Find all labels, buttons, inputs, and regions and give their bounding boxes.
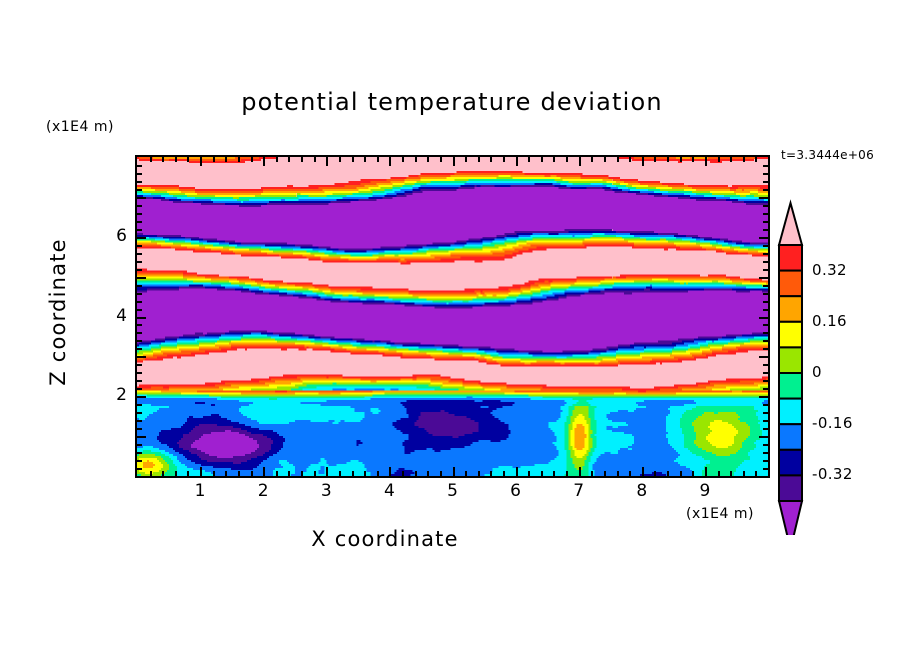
tick-mark [718,471,720,476]
tick-mark [743,471,745,476]
tick-mark [137,396,146,398]
tick-mark [137,165,142,167]
tick-mark [137,340,142,342]
tick-mark [137,277,146,279]
tick-mark [763,269,768,271]
tick-mark [763,221,768,223]
tick-mark [238,157,240,162]
x-tick-label: 1 [185,481,215,501]
tick-mark [763,245,768,247]
tick-mark [591,471,593,476]
x-tick-label: 7 [564,481,594,501]
colorbar-segment [779,322,802,348]
tick-mark [137,317,146,319]
tick-mark [478,471,480,476]
tick-mark [763,253,768,255]
tick-mark [478,157,480,162]
tick-mark [137,404,142,406]
tick-mark [763,428,768,430]
tick-mark [402,471,404,476]
tick-mark [579,157,581,166]
tick-mark [137,420,142,422]
tick-mark [763,348,768,350]
tick-mark [718,157,720,162]
tick-mark [352,471,354,476]
tick-mark [314,157,316,162]
tick-mark [763,452,768,454]
colorbar-segment [779,373,802,399]
tick-mark [339,157,341,162]
tick-mark [763,420,768,422]
tick-mark [465,471,467,476]
tick-mark [415,157,417,162]
tick-mark [213,157,215,162]
tick-mark [763,372,768,374]
colorbar-tick-label: -0.16 [812,414,853,432]
colorbar-segment [779,347,802,373]
tick-mark [528,157,530,162]
colorbar-segment [779,245,802,271]
tick-mark [579,467,581,476]
tick-mark [137,253,142,255]
tick-mark [629,157,631,162]
scalar-field-image [137,157,768,476]
tick-mark [553,157,555,162]
tick-mark [490,471,492,476]
x-axis-unit: (x1E4 m) [686,506,754,522]
tick-mark [137,444,142,446]
tick-mark [150,157,152,162]
tick-mark [389,157,391,166]
tick-mark [137,221,142,223]
tick-mark [654,157,656,162]
tick-mark [137,356,146,358]
y-tick-label: 6 [101,226,127,246]
tick-mark [759,396,768,398]
tick-mark [238,471,240,476]
tick-mark [763,261,768,263]
tick-mark [763,285,768,287]
tick-mark [137,412,142,414]
tick-mark [763,340,768,342]
colorbar-segment [779,475,802,501]
y-axis-label: Z coordinate [46,202,70,422]
tick-mark [137,293,142,295]
tick-mark [617,157,619,162]
tick-mark [326,157,328,166]
timestamp-annotation: t=3.3444e+06 [781,148,874,162]
tick-mark [137,229,142,231]
tick-mark [251,471,253,476]
tick-mark [137,348,142,350]
tick-mark [642,467,644,476]
tick-mark [604,157,606,162]
tick-mark [251,157,253,162]
colorbar-tick-label: 0.16 [812,312,847,330]
tick-mark [692,157,694,162]
tick-mark [339,471,341,476]
colorbar [770,195,890,535]
tick-mark [566,157,568,162]
tick-mark [490,157,492,162]
tick-mark [553,471,555,476]
tick-mark [276,157,278,162]
tick-mark [763,189,768,191]
tick-mark [137,380,142,382]
tick-mark [667,157,669,162]
tick-mark [137,269,142,271]
tick-mark [137,245,142,247]
tick-mark [175,157,177,162]
x-tick-label: 3 [311,481,341,501]
tick-mark [705,467,707,476]
tick-mark [137,460,142,462]
tick-mark [162,157,164,162]
x-tick-label: 8 [627,481,657,501]
tick-mark [364,471,366,476]
tick-mark [743,157,745,162]
tick-mark [200,467,202,476]
tick-mark [759,356,768,358]
tick-mark [763,388,768,390]
tick-mark [352,157,354,162]
tick-mark [137,428,142,430]
tick-mark [427,471,429,476]
tick-mark [759,277,768,279]
tick-mark [137,364,142,366]
tick-mark [137,452,142,454]
tick-mark [763,293,768,295]
tick-mark [516,467,518,476]
tick-mark [763,380,768,382]
tick-mark [730,157,732,162]
page-title: potential temperature deviation [0,88,904,116]
colorbar-tick-label: -0.32 [812,465,853,483]
tick-mark [137,261,142,263]
tick-mark [667,471,669,476]
tick-mark [566,471,568,476]
tick-mark [137,372,142,374]
tick-mark [440,471,442,476]
tick-mark [759,436,768,438]
tick-mark [162,471,164,476]
tick-mark [680,157,682,162]
tick-mark [763,404,768,406]
tick-mark [763,205,768,207]
colorbar-tick-label: 0 [812,363,822,381]
x-tick-label: 2 [248,481,278,501]
y-tick-label: 2 [101,385,127,405]
tick-mark [763,332,768,334]
tick-mark [755,471,757,476]
colorbar-segment [779,296,802,322]
colorbar-segment [779,399,802,425]
tick-mark [759,197,768,199]
tick-mark [175,471,177,476]
tick-mark [503,157,505,162]
tick-mark [364,157,366,162]
tick-mark [763,309,768,311]
tick-mark [263,157,265,166]
tick-mark [591,157,593,162]
tick-mark [692,471,694,476]
tick-mark [137,237,146,239]
tick-mark [187,157,189,162]
colorbar-segment [779,424,802,450]
tick-mark [763,460,768,462]
tick-mark [137,197,146,199]
tick-mark [759,237,768,239]
tick-mark [763,165,768,167]
tick-mark [465,157,467,162]
colorbar-under-arrow [779,501,802,535]
x-axis-label: X coordinate [0,527,770,551]
tick-mark [377,157,379,162]
tick-mark [629,471,631,476]
x-tick-label: 9 [690,481,720,501]
tick-mark [680,471,682,476]
tick-mark [516,157,518,166]
tick-mark [225,471,227,476]
tick-mark [137,301,142,303]
x-tick-label: 6 [501,481,531,501]
tick-mark [528,471,530,476]
tick-mark [137,173,142,175]
y-axis-unit: (x1E4 m) [46,119,114,135]
tick-mark [389,467,391,476]
tick-mark [225,157,227,162]
tick-mark [642,157,644,166]
tick-mark [301,471,303,476]
tick-mark [730,471,732,476]
x-tick-label: 5 [438,481,468,501]
tick-mark [187,471,189,476]
tick-mark [759,317,768,319]
tick-mark [137,468,142,470]
tick-mark [453,157,455,166]
colorbar-segment [779,450,802,476]
tick-mark [137,181,142,183]
tick-mark [137,436,146,438]
tick-mark [503,471,505,476]
tick-mark [763,364,768,366]
tick-mark [137,285,142,287]
tick-mark [705,157,707,166]
y-tick-label: 4 [101,306,127,326]
tick-mark [763,301,768,303]
tick-mark [200,157,202,166]
tick-mark [326,467,328,476]
tick-mark [263,467,265,476]
tick-mark [541,157,543,162]
tick-mark [654,471,656,476]
colorbar-over-arrow [779,203,802,245]
colorbar-tick-label: 0.32 [812,261,847,279]
tick-mark [763,173,768,175]
tick-mark [276,471,278,476]
tick-mark [763,324,768,326]
tick-mark [755,157,757,162]
contour-plot-area [135,155,770,478]
tick-mark [541,471,543,476]
tick-mark [427,157,429,162]
x-tick-label: 4 [374,481,404,501]
tick-mark [288,471,290,476]
tick-mark [453,467,455,476]
tick-mark [137,189,142,191]
tick-mark [137,213,142,215]
tick-mark [301,157,303,162]
tick-mark [763,468,768,470]
tick-mark [377,471,379,476]
tick-mark [440,157,442,162]
tick-mark [213,471,215,476]
tick-mark [137,388,142,390]
tick-mark [763,213,768,215]
tick-mark [137,309,142,311]
tick-mark [137,324,142,326]
tick-mark [150,471,152,476]
tick-mark [604,471,606,476]
tick-mark [763,181,768,183]
tick-mark [402,157,404,162]
tick-mark [137,332,142,334]
tick-mark [137,205,142,207]
tick-mark [617,471,619,476]
tick-mark [763,412,768,414]
tick-mark [314,471,316,476]
tick-mark [763,444,768,446]
tick-mark [288,157,290,162]
tick-mark [763,229,768,231]
colorbar-segment [779,271,802,297]
tick-mark [415,471,417,476]
